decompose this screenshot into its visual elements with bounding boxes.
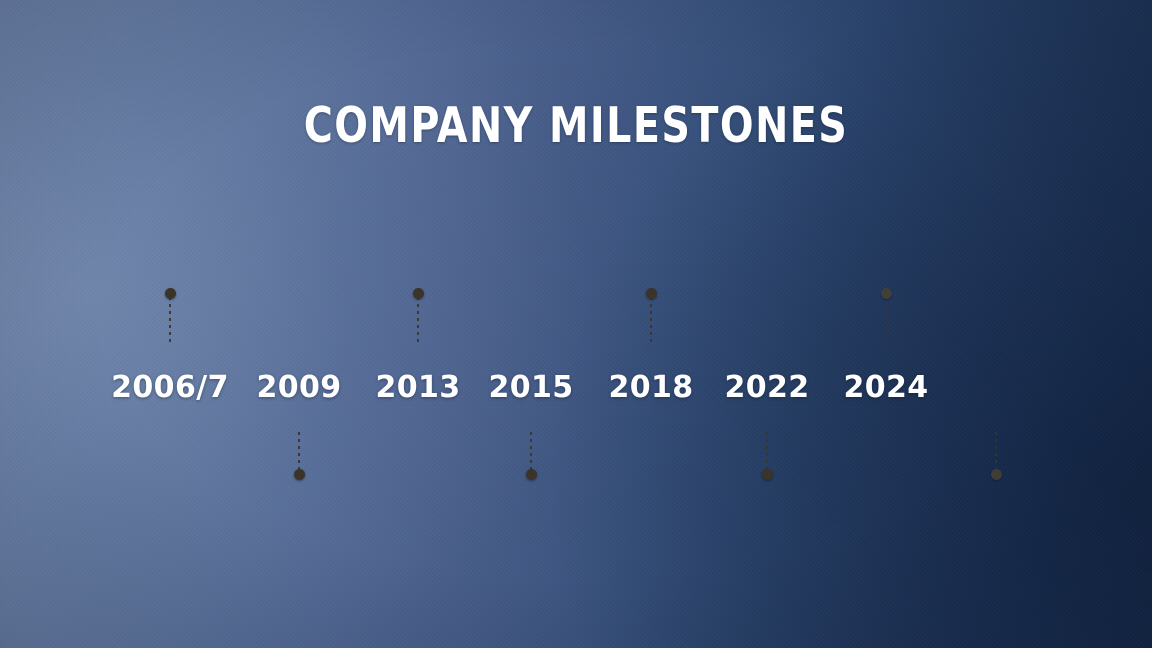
milestone-year-label: 2022: [724, 370, 809, 406]
milestone-connector-up: [885, 288, 887, 345]
dotted-line: [530, 432, 532, 471]
milestone-connector-up: [169, 288, 171, 345]
milestone-dot-icon[interactable]: [646, 288, 657, 299]
dotted-line: [169, 297, 171, 345]
milestone-year-label: 2015: [488, 370, 573, 406]
milestone-dot-icon[interactable]: [762, 469, 773, 480]
milestone-dot-icon[interactable]: [294, 469, 305, 480]
milestone-connector-down: [766, 432, 768, 480]
dotted-line: [885, 297, 887, 345]
dotted-line: [298, 432, 300, 471]
dotted-line: [995, 432, 997, 471]
milestone-connector-up: [650, 288, 652, 345]
milestone-year-label: 2024: [843, 370, 928, 406]
milestone-dot-icon[interactable]: [881, 288, 892, 299]
timeline: 2006/7200920132015201820222024: [0, 0, 1152, 648]
milestone-year-label: 2006/7: [111, 370, 229, 406]
milestone-dot-icon[interactable]: [413, 288, 424, 299]
milestone-connector-down: [530, 432, 532, 480]
milestone-year-label: 2013: [375, 370, 460, 406]
dotted-line: [417, 297, 419, 345]
milestone-dot-icon[interactable]: [165, 288, 176, 299]
milestone-dot-icon[interactable]: [526, 469, 537, 480]
milestone-connector-down: [995, 432, 997, 480]
milestone-connector-down: [298, 432, 300, 480]
dotted-line: [766, 432, 768, 471]
milestone-dot-icon[interactable]: [991, 469, 1002, 480]
slide-canvas: COMPANY MILESTONES 2006/7200920132015201…: [0, 0, 1152, 648]
dotted-line: [650, 297, 652, 345]
milestone-year-label: 2009: [256, 370, 341, 406]
milestone-connector-up: [417, 288, 419, 345]
milestone-year-label: 2018: [608, 370, 693, 406]
